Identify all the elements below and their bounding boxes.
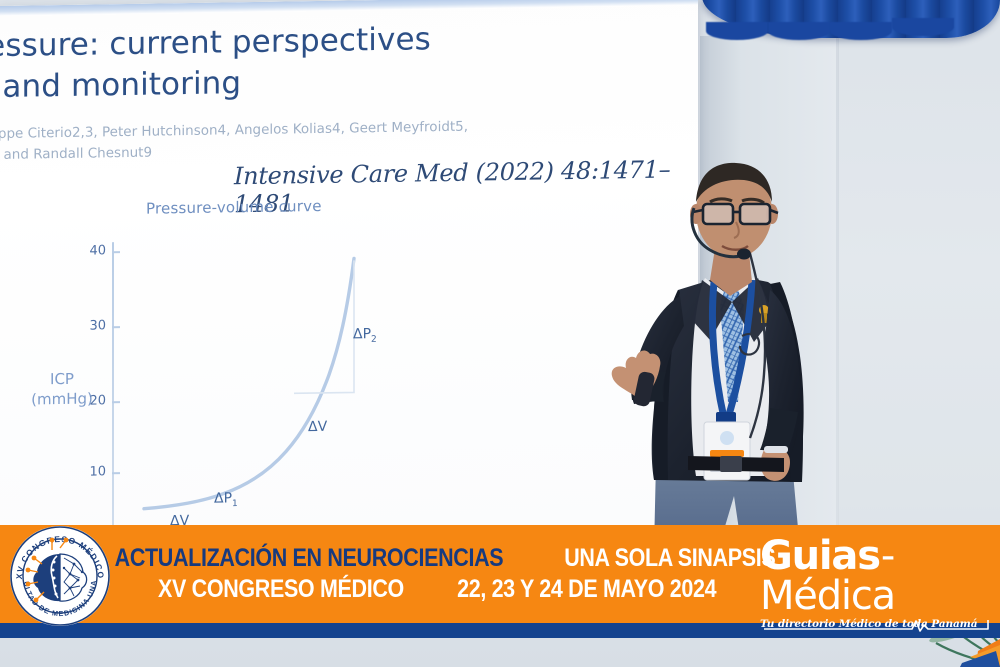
slide-title: ressure: current perspectives y and moni…	[0, 18, 514, 108]
blue-curtain	[702, 0, 1000, 38]
chart-delta-bracket-upper	[294, 260, 354, 393]
heartbeat-pulse-icon	[760, 618, 992, 634]
screenshot-root: ressure: current perspectives y and moni…	[0, 0, 1000, 667]
banner-line-2: XV CONGRESO MÉDICO 22, 23 Y 24 DE MAYO 2…	[138, 575, 737, 604]
banner-line2-secondary: 22, 23 Y 24 DE MAYO 2024	[457, 575, 716, 604]
sponsor-logo-name: Guias-Médica	[760, 536, 992, 616]
banner-line1-primary: ACTUALIZACIÓN EN NEUROCIENCIAS	[115, 544, 504, 573]
annotation-delta-p2: ΔP2	[353, 326, 377, 345]
banner-line-1: ACTUALIZACIÓN EN NEUROCIENCIAS UNA SOLA …	[83, 544, 792, 573]
banner-text-block: ACTUALIZACIÓN EN NEUROCIENCIAS UNA SOLA …	[128, 525, 748, 623]
sponsor-name-light: Médica	[760, 573, 895, 619]
banner-line1-secondary: UNA SOLA SINAPSIS	[564, 544, 775, 573]
congress-seal-logo: XV CONGRESO MÉDICO FACULTAD DE MEDICINA …	[8, 524, 112, 628]
wristwatch-icon	[764, 446, 788, 453]
annotation-delta-v-upper: ΔV	[308, 419, 327, 435]
banner-line2-primary: XV CONGRESO MÉDICO	[158, 575, 404, 604]
sponsor-logo-guias-medica: Guias-Médica Tu directorio Médico de tod…	[760, 536, 992, 616]
annotation-delta-p1: ΔP1	[214, 490, 238, 509]
speaker-figure	[592, 150, 912, 550]
chart-curve	[144, 258, 354, 508]
